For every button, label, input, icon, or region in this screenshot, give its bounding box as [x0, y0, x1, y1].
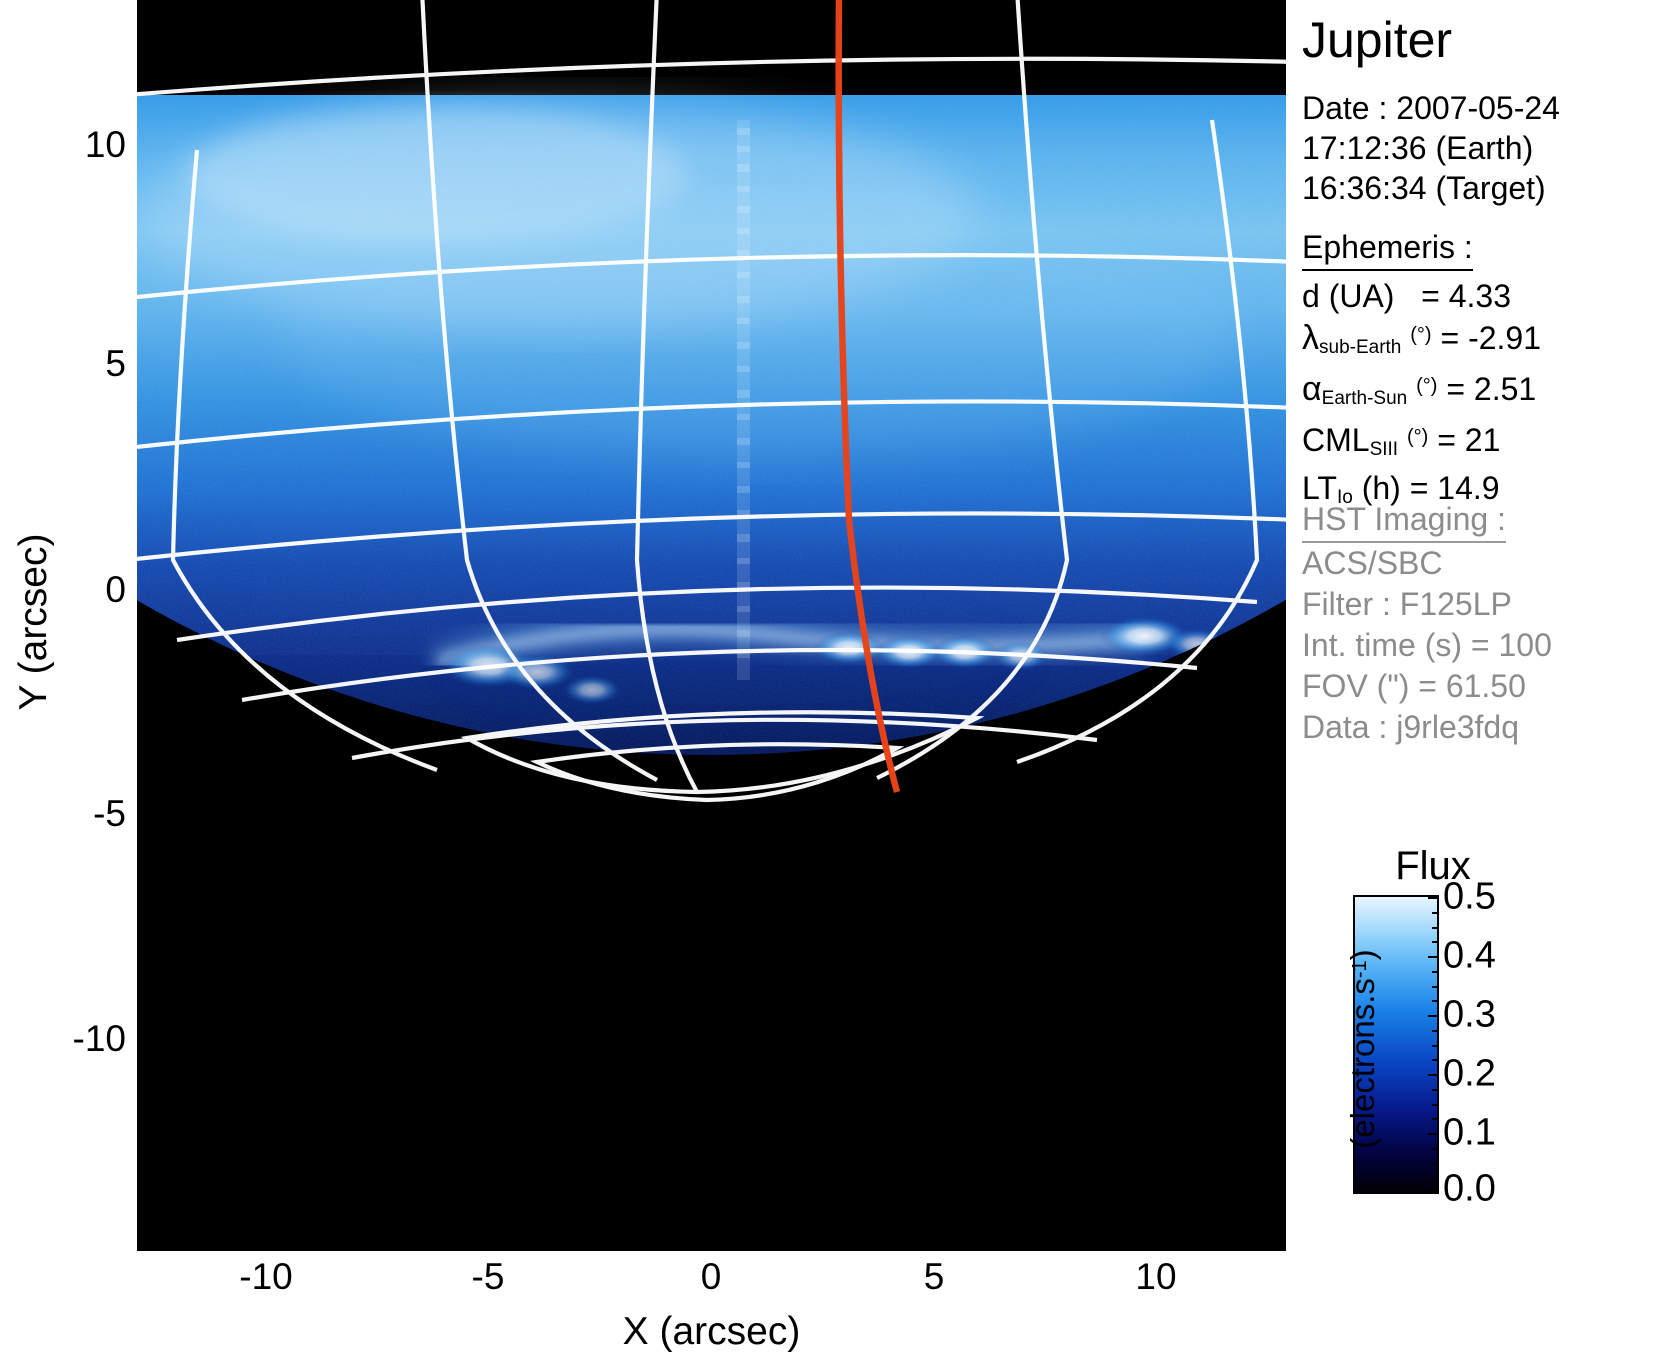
colorbar-tick-0.3: 0.3	[1443, 994, 1496, 1037]
ephemeris-sep: =	[1437, 422, 1456, 458]
colorbar-unit-close: )	[1344, 949, 1381, 960]
x-tick-m5: -5	[472, 1256, 505, 1298]
info-panel: Jupiter Date : 2007-05-24 17:12:36 (Eart…	[1297, 0, 1677, 820]
ephemeris-value: -2.91	[1468, 320, 1541, 356]
ephemeris-sep: =	[1421, 278, 1440, 314]
ephemeris-unit: (UA)	[1329, 278, 1395, 314]
colorbar-tick-0.4: 0.4	[1443, 935, 1496, 978]
figure-root: 10 5 0 -5 -10 Y (arcsec) -10 -5 0 5 10 X…	[0, 0, 1677, 1367]
image-canvas	[137, 0, 1286, 1251]
colorbar-group: Flux 0.5 0.4	[1297, 830, 1677, 1230]
x-axis-tick-labels: -10 -5 0 5 10	[137, 1256, 1286, 1316]
y-tick-0: 0	[105, 569, 126, 611]
x-axis-title: X (arcsec)	[137, 1310, 1286, 1354]
observation-time-target: 16:36:34 (Target)	[1302, 168, 1560, 208]
ephemeris-unit: (°)	[1407, 426, 1428, 448]
ephemeris-row-distance: d (UA) = 4.33	[1302, 277, 1541, 316]
colorbar-tick-0.2: 0.2	[1443, 1053, 1496, 1096]
colorbar-tick-0.1: 0.1	[1443, 1112, 1496, 1155]
hst-filter: Filter : F125LP	[1302, 584, 1552, 625]
ephemeris-symbol: α	[1302, 370, 1322, 408]
y-tick-m5: -5	[93, 793, 126, 835]
ephemeris-block: Ephemeris : d (UA) = 4.33 λsub-Earth (°)…	[1302, 228, 1541, 517]
ephemeris-value: 21	[1465, 422, 1501, 458]
ephemeris-symbol: d	[1302, 278, 1320, 314]
hst-imaging-block: HST Imaging : ACS/SBC Filter : F125LP In…	[1302, 500, 1552, 748]
colorbar-tick-0.5: 0.5	[1443, 876, 1496, 919]
x-tick-m10: -10	[239, 1256, 292, 1298]
colorbar-title: Flux	[1333, 844, 1533, 889]
y-axis-title: Y (arcsec)	[12, 492, 56, 752]
hst-instrument: ACS/SBC	[1302, 543, 1552, 584]
colorbar-unit-exponent: -1	[1349, 960, 1371, 978]
x-tick-10: 10	[1135, 1256, 1176, 1298]
colorbar-tick-0.0: 0.0	[1443, 1168, 1496, 1211]
ephemeris-row-sub-earth-latitude: λsub-Earth (°) = -2.91	[1302, 316, 1541, 367]
ephemeris-symbol: λ	[1302, 319, 1319, 357]
colorbar-unit-text: (electrons.s	[1344, 978, 1381, 1149]
y-tick-5: 5	[105, 343, 126, 385]
hst-dataset-id: Data : j9rle3fdq	[1302, 707, 1552, 748]
colorbar-tick-labels: 0.5 0.4 0.3 0.2 0.1 0.0	[1443, 895, 1603, 1190]
hst-integration-time: Int. time (s) = 100	[1302, 625, 1552, 666]
hst-field-of-view: FOV (") = 61.50	[1302, 666, 1552, 707]
ephemeris-value: 2.51	[1474, 371, 1536, 407]
ephemeris-unit: (°)	[1410, 324, 1431, 346]
ephemeris-row-cml: CMLSIII (°) = 21	[1302, 418, 1541, 469]
ephemeris-value: 4.33	[1449, 278, 1511, 314]
observation-date: Date : 2007-05-24	[1302, 88, 1560, 128]
ephemeris-unit: (°)	[1416, 375, 1437, 397]
target-title: Jupiter	[1302, 12, 1452, 68]
ephemeris-sep: =	[1446, 371, 1465, 407]
x-tick-0: 0	[701, 1256, 722, 1298]
hst-imaging-heading: HST Imaging :	[1302, 500, 1506, 543]
ephemeris-subscript: sub-Earth	[1319, 337, 1401, 358]
ephemeris-symbol: CML	[1302, 422, 1370, 458]
y-tick-m10: -10	[73, 1018, 126, 1060]
x-tick-5: 5	[924, 1256, 945, 1298]
ephemeris-subscript: Earth-Sun	[1322, 388, 1408, 409]
colorbar-unit-label: (electrons.s-1)	[1344, 899, 1382, 1199]
y-tick-10: 10	[85, 124, 126, 166]
ephemeris-heading: Ephemeris :	[1302, 228, 1473, 271]
ephemeris-subscript: SIII	[1370, 439, 1399, 460]
ephemeris-row-phase-angle: αEarth-Sun (°) = 2.51	[1302, 367, 1541, 418]
jupiter-image-plot	[137, 0, 1286, 1251]
observation-time-earth: 17:12:36 (Earth)	[1302, 128, 1560, 168]
observation-date-block: Date : 2007-05-24 17:12:36 (Earth) 16:36…	[1302, 88, 1560, 208]
ephemeris-sep: =	[1440, 320, 1459, 356]
